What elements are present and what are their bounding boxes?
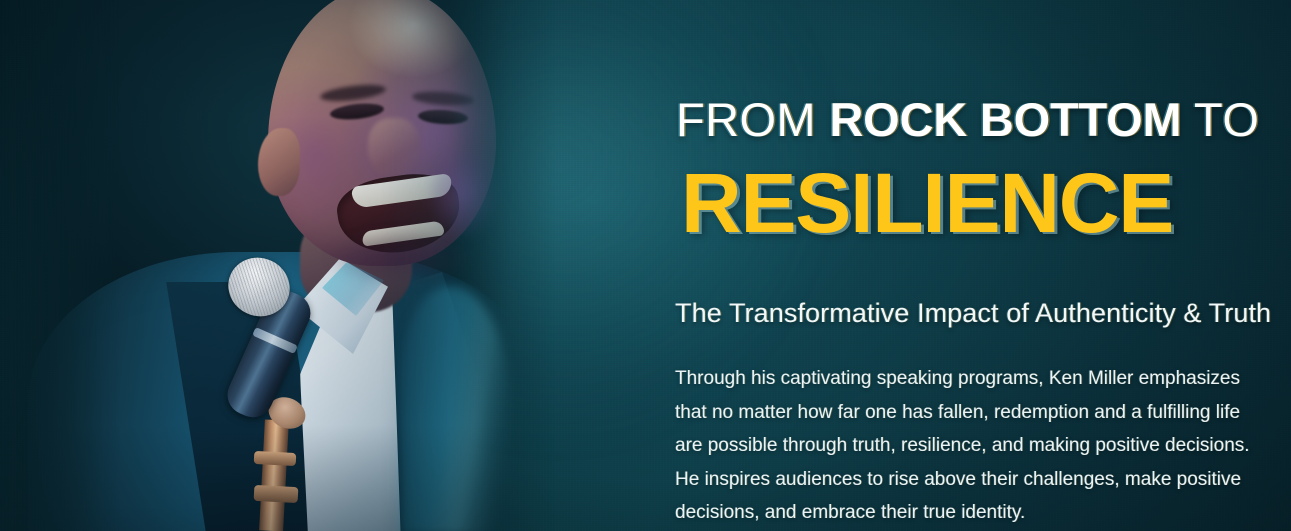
hero-banner: FROM ROCK BOTTOM TO RESILIENCE The Trans…	[0, 0, 1291, 531]
headline-words-rock-bottom: ROCK BOTTOM	[829, 93, 1181, 146]
headline-word-to: TO	[1181, 93, 1259, 146]
photo-color-grade	[0, 0, 560, 531]
headline-resilience: RESILIENCE	[681, 161, 1173, 245]
headline-word-from: FROM	[676, 93, 829, 146]
hero-body-copy: Through his captivating speaking program…	[675, 362, 1267, 530]
hero-subtitle: The Transformative Impact of Authenticit…	[675, 298, 1271, 329]
hero-text-column: FROM ROCK BOTTOM TO RESILIENCE The Trans…	[673, 0, 1273, 531]
headline-primary: FROM ROCK BOTTOM TO	[676, 96, 1259, 143]
speaker-portrait-photo	[0, 0, 560, 531]
hero-body-paragraph: Through his captivating speaking program…	[675, 362, 1267, 530]
